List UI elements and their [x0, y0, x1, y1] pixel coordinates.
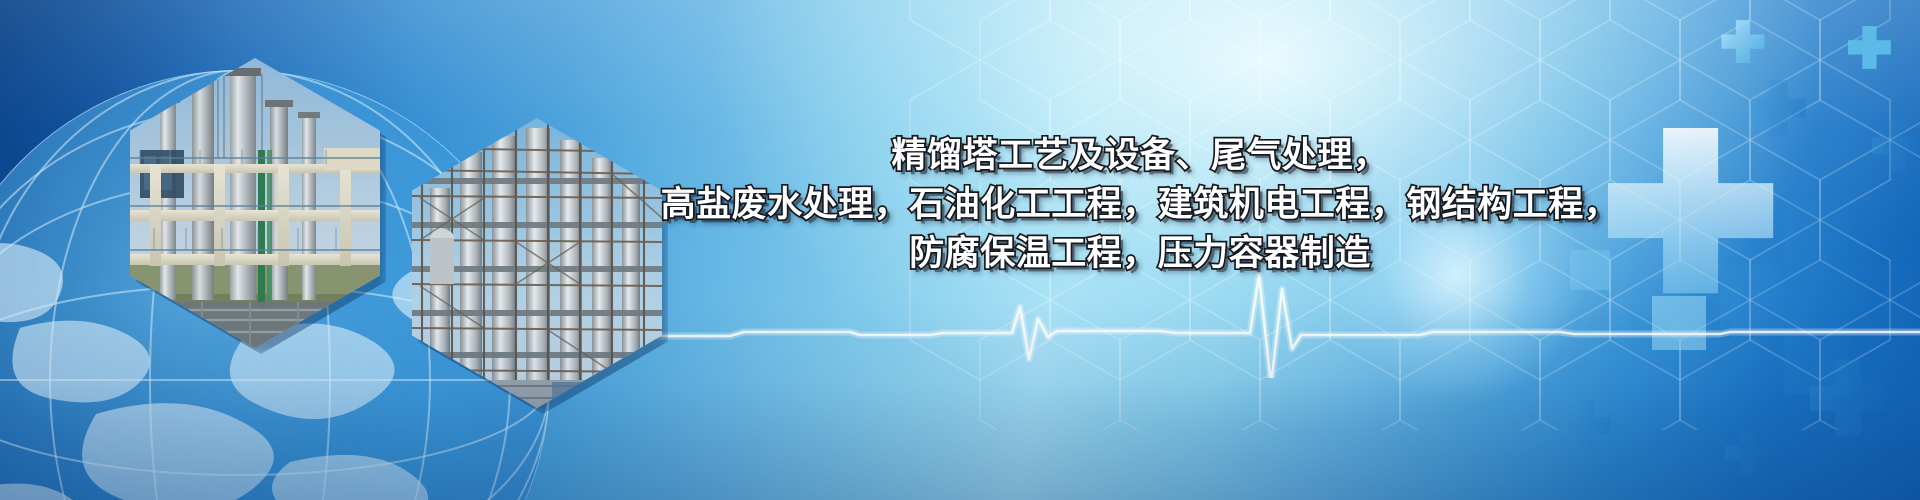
headline-line-3: 防腐保温工程，压力容器制造 — [640, 230, 1640, 279]
headline-line-1: 精馏塔工艺及设备、尾气处理， — [640, 132, 1640, 181]
background-bottom-shade — [0, 300, 1920, 500]
headline-block: 精馏塔工艺及设备、尾气处理， 高盐废水处理，石油化工工程，建筑机电工程，钢结构工… — [640, 132, 1640, 279]
headline-line-2: 高盐废水处理，石油化工工程，建筑机电工程，钢结构工程， — [640, 181, 1640, 230]
hero-banner: 精馏塔工艺及设备、尾气处理， 高盐废水处理，石油化工工程，建筑机电工程，钢结构工… — [0, 0, 1920, 500]
